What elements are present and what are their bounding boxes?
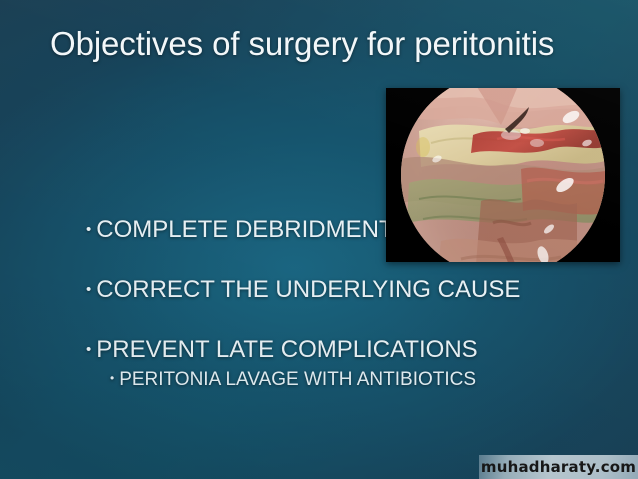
bullet-marker-icon: • xyxy=(86,342,91,357)
list-item-label: COMPLETE DEBRIDMENT xyxy=(96,218,393,242)
endoscope-circular-view xyxy=(401,88,605,262)
tissue-illustration xyxy=(401,88,605,262)
list-item: • CORRECT THE UNDERLYING CAUSE xyxy=(86,278,556,302)
presentation-slide: Objectives of surgery for peritonitis • … xyxy=(0,0,638,479)
bullet-marker-icon: • xyxy=(86,282,91,297)
list-item-label: CORRECT THE UNDERLYING CAUSE xyxy=(96,278,520,302)
site-watermark: muhadharaty.com xyxy=(479,455,638,479)
slide-title: Objectives of surgery for peritonitis xyxy=(50,24,610,64)
list-item: • PREVENT LATE COMPLICATIONS xyxy=(86,338,556,362)
bullet-marker-icon: • xyxy=(110,372,114,384)
list-item-label: PREVENT LATE COMPLICATIONS xyxy=(96,338,477,362)
bullet-marker-icon: • xyxy=(86,222,91,237)
sub-list-item-label: PERITONIA LAVAGE WITH ANTIBIOTICS xyxy=(119,370,476,389)
laparoscopic-peritonitis-photo xyxy=(386,88,620,262)
watermark-label: muhadharaty.com xyxy=(481,458,636,476)
sub-list-item: • PERITONIA LAVAGE WITH ANTIBIOTICS xyxy=(110,370,556,389)
